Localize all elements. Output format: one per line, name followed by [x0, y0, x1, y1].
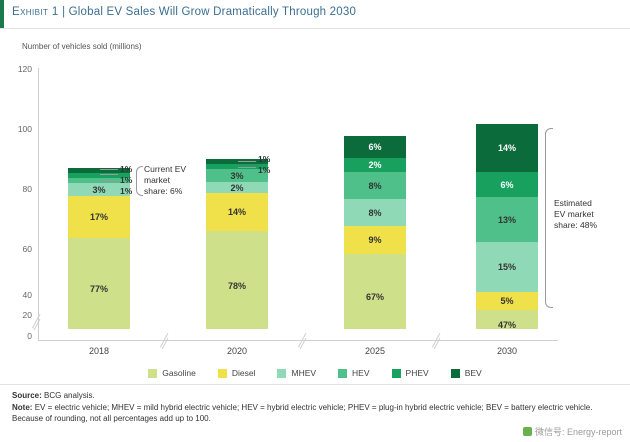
- note-line: Note: EV = electric vehicle; MHEV = mild…: [12, 402, 618, 425]
- x-tick-2020: 2020: [207, 346, 267, 356]
- legend-label-gasoline: Gasoline: [162, 368, 196, 378]
- callout-line-2018-phev: [100, 174, 118, 175]
- legend-item-bev[interactable]: BEV: [451, 368, 482, 378]
- legend-swatch-phev: [392, 369, 401, 378]
- bar-2020-label-hev: 3%: [230, 171, 243, 181]
- bar-2030-label-diesel: 5%: [500, 296, 513, 306]
- bar-2020-label-diesel: 14%: [228, 207, 246, 217]
- legend-item-hev[interactable]: HEV: [338, 368, 369, 378]
- legend-item-mhev[interactable]: MHEV: [277, 368, 316, 378]
- legend-label-phev: PHEV: [406, 368, 429, 378]
- x-axis-break-3: [432, 333, 445, 349]
- callout-line-2020-bev: [238, 161, 256, 162]
- bar-2030-label-bev: 14%: [498, 143, 516, 153]
- y-axis-label: Number of vehicles sold (millions): [22, 42, 142, 51]
- callout-2018-bev: 1%: [120, 164, 132, 174]
- x-axis-break-1: [160, 333, 173, 349]
- callout-line-2018-hev: [100, 180, 118, 181]
- bar-2018-label-gasoline: 77%: [90, 284, 108, 294]
- bar-2030-segment-mhev: 15%: [476, 242, 538, 292]
- y-axis-line: [38, 68, 39, 340]
- bar-2030-segment-bev: 14%: [476, 124, 538, 172]
- bar-2030-label-hev: 13%: [498, 215, 516, 225]
- callout-2020-phev: 1%: [258, 165, 270, 175]
- header-accent-bar: [0, 0, 4, 28]
- source-label: Source:: [12, 391, 42, 400]
- legend-item-phev[interactable]: PHEV: [392, 368, 429, 378]
- bar-2030-segment-hev: 13%: [476, 197, 538, 242]
- exhibit-header: Exhibit 1 | Global EV Sales Will Grow Dr…: [0, 0, 630, 29]
- bar-2030-segment-phev: 6%: [476, 172, 538, 197]
- bar-2025-segment-phev: 2%: [344, 158, 406, 172]
- bar-2030-segment-diesel: 5%: [476, 292, 538, 310]
- legend-swatch-bev: [451, 369, 460, 378]
- chart-canvas: Number of vehicles sold (millions) 120 1…: [0, 28, 630, 373]
- bar-2025-segment-gasoline: 67%: [344, 254, 406, 340]
- annotation-current-share: Current EV market share: 6%: [144, 164, 186, 197]
- bar-2020-segment-gasoline: 78%: [206, 231, 268, 340]
- callout-2018-phev: 1%: [120, 175, 132, 185]
- bar-2020-label-gasoline: 78%: [228, 281, 246, 291]
- header-title-text: Global EV Sales Will Grow Dramatically T…: [69, 6, 356, 18]
- callout-2020-bev: 1%: [258, 154, 270, 164]
- bar-2018-label-diesel: 17%: [90, 212, 108, 222]
- annotation-current-line1: Current EV: [144, 164, 186, 175]
- y-tick-100: 100: [8, 124, 32, 134]
- bar-2025-label-bev: 6%: [368, 142, 381, 152]
- y-tick-20: 20: [8, 310, 32, 320]
- wechat-icon: [523, 427, 532, 436]
- legend-swatch-diesel: [218, 369, 227, 378]
- annotation-estimated-line1: Estimated: [554, 198, 597, 209]
- bar-2025-segment-mhev: 8%: [344, 199, 406, 226]
- annotation-estimated-line3: share: 48%: [554, 220, 597, 231]
- callout-line-2020-phev: [238, 167, 256, 168]
- estimated-share-brace: [545, 128, 553, 308]
- bar-2030-break: [476, 329, 538, 340]
- bar-2025-label-diesel: 9%: [368, 235, 381, 245]
- current-share-brace: [136, 166, 143, 196]
- y-tick-80: 80: [8, 184, 32, 194]
- legend-swatch-mhev: [277, 369, 286, 378]
- bar-2025[interactable]: 6% 2% 8% 8% 9% 67%: [344, 136, 406, 340]
- header-separator: |: [62, 6, 65, 18]
- note-label: Note:: [12, 403, 32, 412]
- y-tick-40: 40: [8, 290, 32, 300]
- legend-swatch-hev: [338, 369, 347, 378]
- bar-2020-segment-mhev: 2%: [206, 182, 268, 193]
- bar-2030-label-mhev: 15%: [498, 262, 516, 272]
- bar-2025-break: [344, 329, 406, 340]
- bar-2020-label-mhev: 2%: [230, 183, 243, 193]
- bar-2025-label-phev: 2%: [368, 160, 381, 170]
- chart-footnotes: Source: BCG analysis. Note: EV = electri…: [0, 386, 630, 425]
- bar-2018-segment-diesel: 17%: [68, 196, 130, 238]
- y-axis-break-mark: [32, 314, 45, 330]
- bar-2020-segment-diesel: 14%: [206, 193, 268, 231]
- callout-line-2018-bev: [100, 169, 118, 170]
- annotation-estimated-line2: EV market: [554, 209, 597, 220]
- bar-2025-label-gasoline: 67%: [366, 292, 384, 302]
- exhibit-number: Exhibit 1: [12, 6, 59, 18]
- chart-legend: Gasoline Diesel MHEV HEV PHEV BEV: [0, 362, 630, 385]
- bar-2025-label-hev: 8%: [368, 181, 381, 191]
- bar-2018-label-mhev: 3%: [92, 185, 105, 195]
- page-title: Exhibit 1 | Global EV Sales Will Grow Dr…: [12, 6, 356, 18]
- legend-label-bev: BEV: [465, 368, 482, 378]
- annotation-current-line2: market: [144, 175, 186, 186]
- bar-2020-break: [206, 329, 268, 340]
- annotation-current-line3: share: 6%: [144, 186, 186, 197]
- bar-2025-segment-hev: 8%: [344, 172, 406, 199]
- watermark: 微信号: Energy-report: [523, 425, 622, 438]
- bar-2018-segment-gasoline: 77%: [68, 238, 130, 340]
- legend-swatch-gasoline: [148, 369, 157, 378]
- y-tick-0: 0: [8, 331, 32, 341]
- x-tick-2025: 2025: [345, 346, 405, 356]
- bar-2025-segment-diesel: 9%: [344, 226, 406, 254]
- legend-item-gasoline[interactable]: Gasoline: [148, 368, 196, 378]
- bar-2030[interactable]: 14% 6% 13% 15% 5% 47%: [476, 124, 538, 340]
- watermark-text: 微信号: Energy-report: [535, 427, 622, 437]
- note-text: EV = electric vehicle; MHEV = mild hybri…: [12, 403, 592, 424]
- source-line: Source: BCG analysis.: [12, 390, 618, 402]
- y-tick-60: 60: [8, 244, 32, 254]
- x-tick-2018: 2018: [69, 346, 129, 356]
- bar-2020[interactable]: 3% 2% 14% 78%: [206, 159, 268, 340]
- bar-2030-label-phev: 6%: [500, 180, 513, 190]
- y-tick-120: 120: [8, 64, 32, 74]
- x-tick-2030: 2030: [477, 346, 537, 356]
- legend-item-diesel[interactable]: Diesel: [218, 368, 256, 378]
- x-axis-break-2: [298, 333, 311, 349]
- bar-2025-label-mhev: 8%: [368, 208, 381, 218]
- legend-label-diesel: Diesel: [232, 368, 256, 378]
- source-text: BCG analysis.: [44, 391, 95, 400]
- legend-label-hev: HEV: [352, 368, 369, 378]
- annotation-estimated-share: Estimated EV market share: 48%: [554, 198, 597, 231]
- callout-2018-hev: 1%: [120, 186, 132, 196]
- legend-label-mhev: MHEV: [291, 368, 316, 378]
- bar-2018-break: [68, 329, 130, 340]
- bar-2025-segment-bev: 6%: [344, 136, 406, 158]
